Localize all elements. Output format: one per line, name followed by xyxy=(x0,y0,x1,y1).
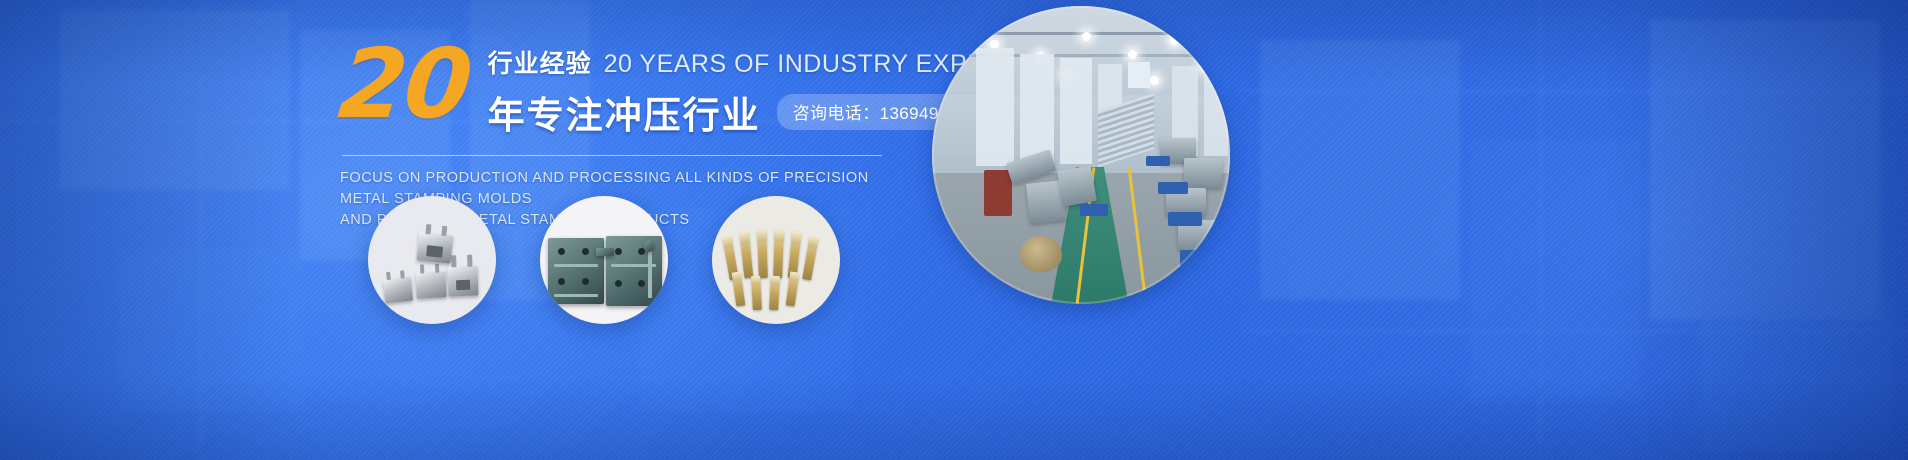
promo-banner: 20 行业经验 20 YEARS OF INDUSTRY EXPERIENCE … xyxy=(0,0,1908,460)
connector-shells-image xyxy=(368,196,496,324)
years-number: 20 xyxy=(336,44,474,125)
headline-cn-big: 年专注冲压行业 xyxy=(488,85,761,139)
product-circle-connectors xyxy=(368,196,496,324)
headline-divider xyxy=(342,155,882,156)
headline-row: 20 行业经验 20 YEARS OF INDUSTRY EXPERIENCE … xyxy=(340,40,960,139)
headline-cn-small: 行业经验 xyxy=(488,44,592,80)
brass-terminal-pins-image xyxy=(712,196,840,324)
factory-workshop-interior xyxy=(932,6,1230,304)
stamping-mold-image xyxy=(540,196,668,324)
product-circle-pins xyxy=(712,196,840,324)
product-circle-molds xyxy=(540,196,668,324)
factory-photo-circle xyxy=(932,6,1230,304)
